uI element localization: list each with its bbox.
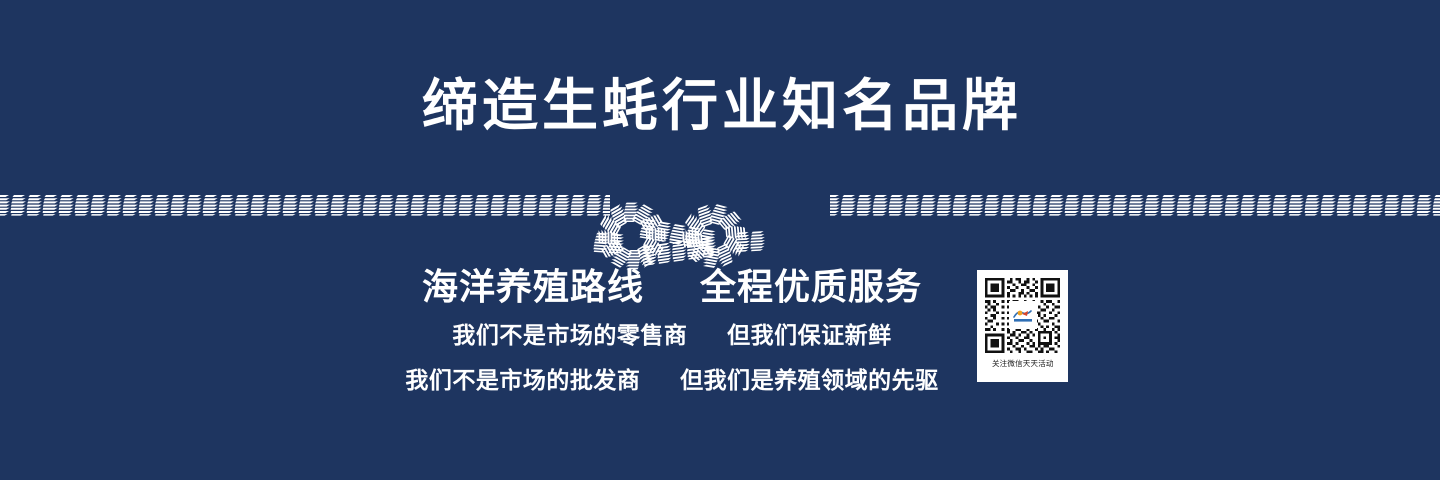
description-2-left: 我们不是市场的批发商	[405, 367, 640, 393]
rope-segment-left	[0, 194, 610, 216]
subtitle-left: 海洋养殖路线	[422, 266, 644, 307]
description-2-right: 但我们是养殖领域的先驱	[680, 367, 939, 393]
description-line-1: 我们不是市场的零售商 但我们保证新鲜	[0, 320, 1440, 350]
page-title: 缔造生蚝行业知名品牌	[0, 74, 1440, 138]
description-line-2: 我们不是市场的批发商 但我们是养殖领域的先驱	[0, 365, 1440, 395]
brand-logo-icon	[1009, 301, 1037, 329]
subtitle: 海洋养殖路线 全程优质服务	[0, 265, 1440, 309]
rope-segment-right	[830, 194, 1440, 216]
description-1-right: 但我们保证新鲜	[727, 322, 892, 348]
wechat-qr-card[interactable]: 关注微信天天活动	[977, 270, 1068, 382]
rope-divider	[0, 188, 1440, 222]
promo-banner: 缔造生蚝行业知名品牌	[0, 0, 1440, 480]
description-1-left: 我们不是市场的零售商	[452, 322, 687, 348]
rope-strands-icon	[0, 194, 610, 216]
rope-strands-icon	[830, 194, 1440, 216]
subtitle-right: 全程优质服务	[700, 266, 922, 307]
qr-caption: 关注微信天天活动	[992, 358, 1054, 369]
qr-code-icon[interactable]	[982, 275, 1063, 356]
